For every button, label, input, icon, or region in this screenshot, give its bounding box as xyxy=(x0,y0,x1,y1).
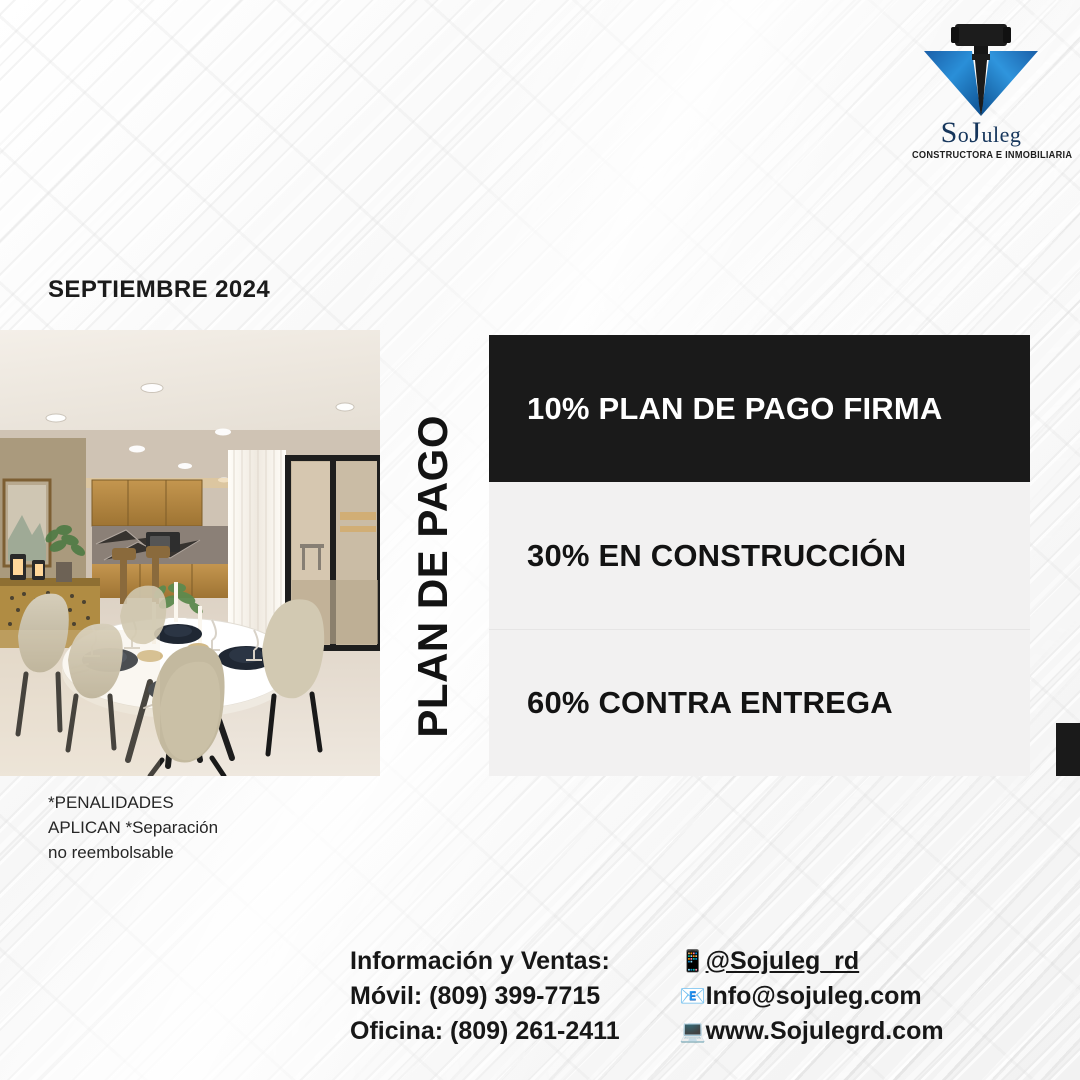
brand-wordmark: SoJuleg xyxy=(906,118,1056,148)
contact-heading: Información y Ventas: xyxy=(350,944,620,979)
brand-wordmark-o: o xyxy=(958,122,970,147)
contact-office[interactable]: Oficina: (809) 261-2411 xyxy=(350,1014,620,1049)
contact-heading-text: Información y Ventas: xyxy=(350,944,610,979)
contact-email-text: Info@sojuleg.com xyxy=(706,979,922,1014)
contact-mobile[interactable]: Móvil: (809) 399-7715 xyxy=(350,979,620,1014)
contact-office-text: Oficina: (809) 261-2411 xyxy=(350,1014,620,1049)
contact-website[interactable]: 💻 www.Sojulegrd.com xyxy=(680,1014,944,1049)
plan-row-construccion-label: 30% EN CONSTRUCCIÓN xyxy=(527,538,906,574)
payment-plan-panel: 10% PLAN DE PAGO FIRMA 30% EN CONSTRUCCI… xyxy=(489,335,1030,776)
plan-row-entrega[interactable]: 60% CONTRA ENTREGA xyxy=(489,629,1030,776)
contact-email[interactable]: 📧 Info@sojuleg.com xyxy=(680,979,944,1014)
contact-social[interactable]: 📱 @Sojuleg_rd xyxy=(680,944,944,979)
brand-wordmark-uleg: uleg xyxy=(981,122,1021,147)
contact-column-right: 📱 @Sojuleg_rd 📧 Info@sojuleg.com 💻 www.S… xyxy=(680,944,944,1049)
brand-wordmark-s: S xyxy=(941,116,958,149)
property-photo-image xyxy=(0,330,380,776)
contact-mobile-text: Móvil: (809) 399-7715 xyxy=(350,979,600,1014)
plan-row-construccion[interactable]: 30% EN CONSTRUCCIÓN xyxy=(489,482,1030,629)
laptop-icon: 💻 xyxy=(680,1014,706,1049)
edge-accent-block xyxy=(1056,723,1080,776)
footnote-line-3: no reembolsable xyxy=(48,840,348,865)
email-envelope-icon: 📧 xyxy=(680,979,706,1014)
footnote-line-2: APLICAN *Separación xyxy=(48,815,348,840)
plan-row-firma-label: 10% PLAN DE PAGO FIRMA xyxy=(527,391,942,427)
plan-row-firma[interactable]: 10% PLAN DE PAGO FIRMA xyxy=(489,335,1030,482)
property-photo xyxy=(0,330,380,776)
brand-wordmark-j: J xyxy=(969,116,981,149)
gavel-diamond-logo-icon xyxy=(906,18,1056,120)
plan-vertical-title: PLAN DE PAGO xyxy=(400,368,466,738)
mobile-phone-icon: 📱 xyxy=(680,944,706,979)
payment-plan-poster: SoJuleg CONSTRUCTORA E INMOBILIARIA SEPT… xyxy=(0,0,1080,1080)
brand-logo: SoJuleg CONSTRUCTORA E INMOBILIARIA xyxy=(906,18,1056,158)
footnote: *PENALIDADES APLICAN *Separación no reem… xyxy=(48,790,348,865)
date-label: SEPTIEMBRE 2024 xyxy=(48,276,270,304)
plan-vertical-title-text: PLAN DE PAGO xyxy=(412,415,454,738)
contact-block: Información y Ventas: Móvil: (809) 399-7… xyxy=(350,944,944,1049)
footnote-line-1: *PENALIDADES xyxy=(48,790,348,815)
plan-row-entrega-label: 60% CONTRA ENTREGA xyxy=(527,685,893,721)
contact-column-left: Información y Ventas: Móvil: (809) 399-7… xyxy=(350,944,620,1049)
brand-tagline: CONSTRUCTORA E INMOBILIARIA xyxy=(912,150,1050,161)
contact-website-text: www.Sojulegrd.com xyxy=(706,1014,944,1049)
contact-social-text: @Sojuleg_rd xyxy=(706,944,860,979)
